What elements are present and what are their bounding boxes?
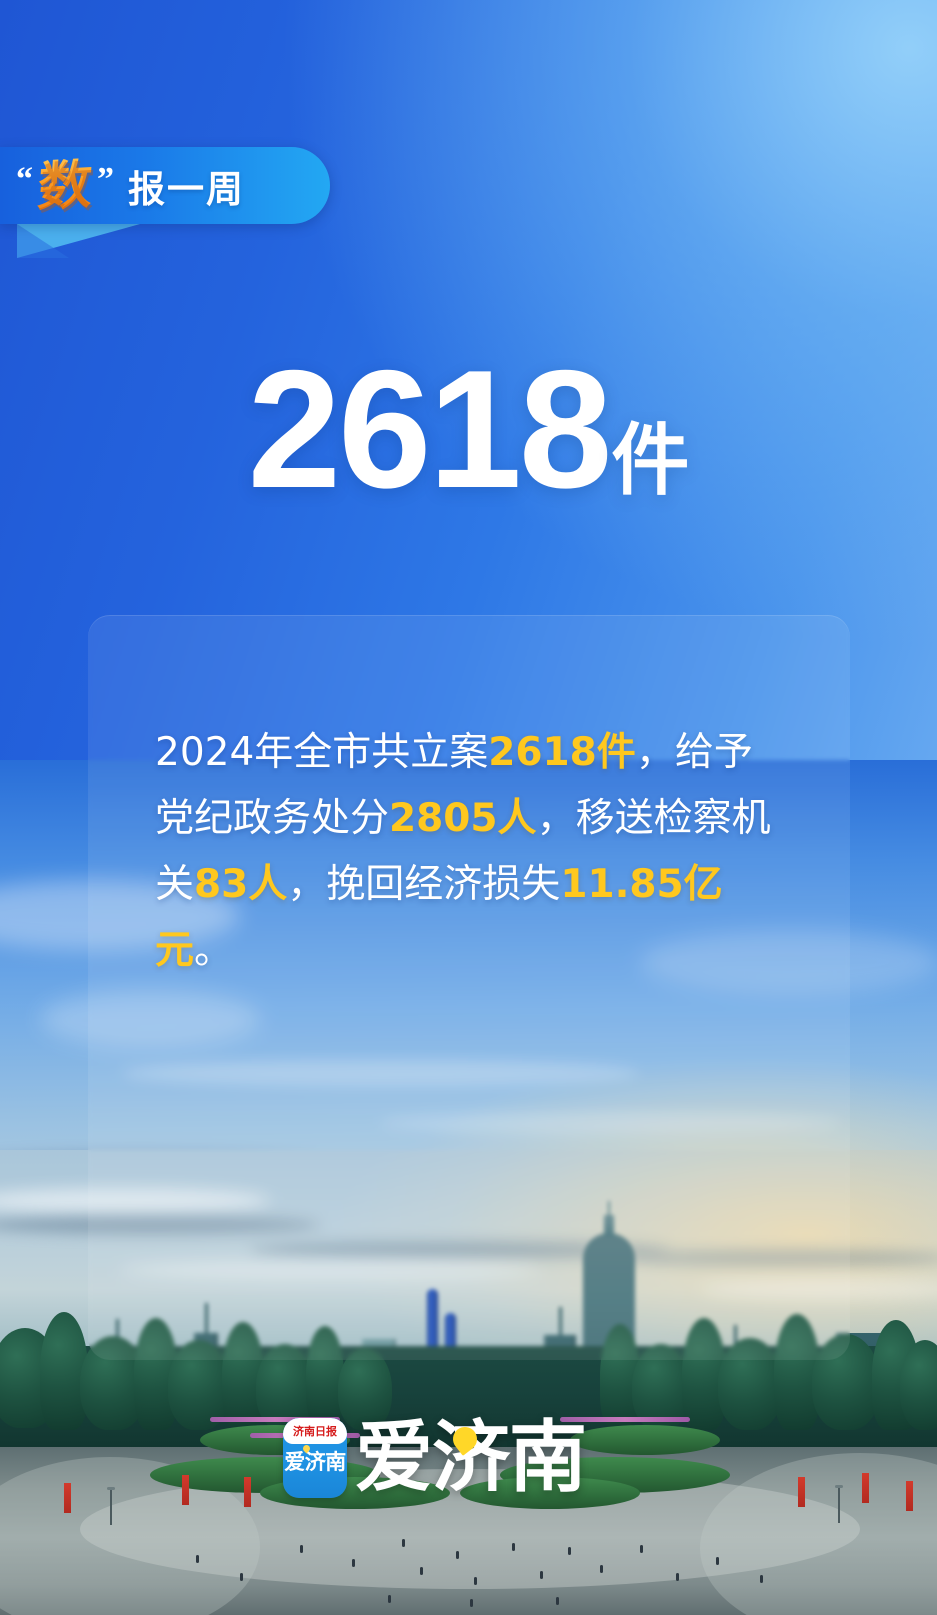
- brand-wordmark: 爱济南: [355, 1421, 586, 1496]
- pedestrian: [474, 1577, 477, 1585]
- street-banner: [862, 1473, 869, 1503]
- street-banner: [798, 1477, 805, 1507]
- pedestrian: [456, 1551, 459, 1559]
- plaza-walkway: [700, 1453, 937, 1615]
- pedestrian: [352, 1559, 355, 1567]
- body-highlight-segment: 83人: [194, 862, 287, 907]
- pedestrian: [556, 1597, 559, 1605]
- pedestrian: [600, 1565, 603, 1573]
- header-title: 报一周: [128, 159, 245, 213]
- header-key-character: 数: [33, 157, 97, 214]
- header-banner-inner: “ 数 ” 报一周: [0, 159, 245, 213]
- street-lamp-head: [107, 1487, 115, 1490]
- pedestrian: [196, 1555, 199, 1563]
- pedestrian: [470, 1599, 473, 1607]
- pedestrian: [512, 1543, 515, 1551]
- pedestrian: [420, 1567, 423, 1575]
- ribbon-tail-dark: [17, 224, 69, 258]
- pedestrian: [540, 1571, 543, 1579]
- brand-wordmark-text: 爱济南: [355, 1413, 586, 1503]
- quote-close-icon: ”: [97, 163, 114, 197]
- cloud-ornament-icon: ಺಺: [283, 1475, 347, 1493]
- pedestrian: [300, 1545, 303, 1553]
- hero-stat-value: 2618: [248, 335, 610, 523]
- body-text-segment: 2024年全市共立案: [155, 730, 488, 775]
- street-lamp-head: [835, 1485, 843, 1488]
- pedestrian: [388, 1595, 391, 1603]
- pedestrian: [716, 1557, 719, 1565]
- street-lamp: [838, 1487, 840, 1523]
- newspaper-name: 济南日报: [293, 1423, 337, 1439]
- body-paragraph: 2024年全市共立案2618件，给予党纪政务处分2805人，移送检察机关83人，…: [155, 720, 785, 984]
- pedestrian: [640, 1545, 643, 1553]
- badge-app-name: 爱济南: [283, 1446, 347, 1476]
- hedge: [570, 1425, 720, 1455]
- pedestrian: [240, 1573, 243, 1581]
- header-banner[interactable]: “ 数 ” 报一周: [0, 147, 330, 224]
- pedestrian: [760, 1575, 763, 1583]
- street-banner: [64, 1483, 71, 1513]
- body-text-segment: 。: [194, 928, 233, 973]
- body-highlight-segment: 2618件: [488, 730, 636, 775]
- pedestrian: [568, 1547, 571, 1555]
- poster-root: “ 数 ” 报一周 2618件 2024年全市共立案2618件，给予党纪政务处分…: [0, 0, 937, 1615]
- footer-branding[interactable]: 济南日报 爱济南 ಺಺ 爱济南: [283, 1418, 586, 1498]
- pedestrian: [676, 1573, 679, 1581]
- quote-open-icon: “: [16, 163, 33, 197]
- street-banner: [244, 1477, 251, 1507]
- street-banner: [906, 1481, 913, 1511]
- pedestrian: [402, 1539, 405, 1547]
- body-highlight-segment: 2805人: [389, 796, 537, 841]
- street-lamp: [110, 1489, 112, 1525]
- hero-stat: 2618件: [0, 345, 937, 513]
- hero-stat-unit: 件: [611, 416, 689, 506]
- badge-top-band: 济南日报: [283, 1418, 347, 1444]
- street-banner: [182, 1475, 189, 1505]
- app-icon-badge[interactable]: 济南日报 爱济南 ಺಺: [283, 1418, 347, 1498]
- body-text-segment: ，挽回经济损失: [287, 862, 560, 907]
